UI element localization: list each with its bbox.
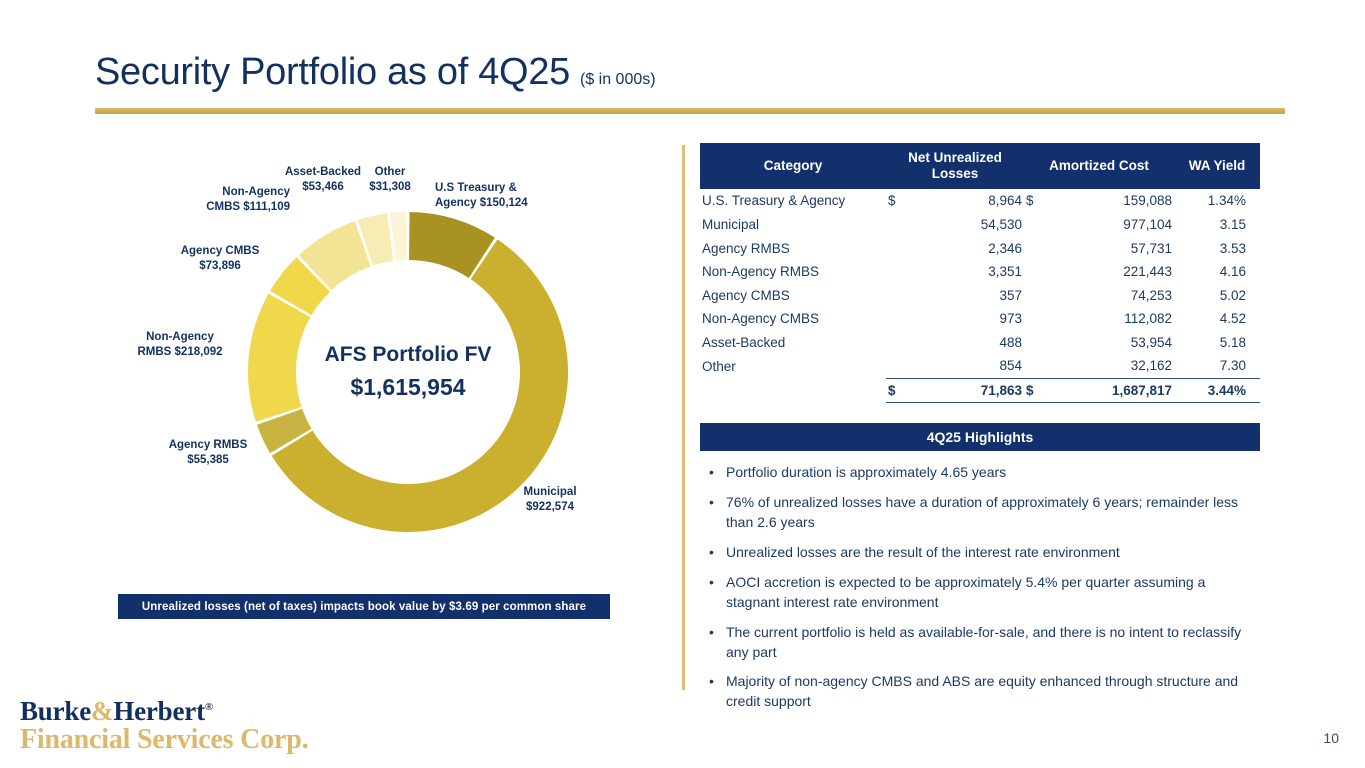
cell-nul-symbol (886, 237, 908, 261)
bullet-icon: • (709, 463, 714, 483)
highlights-list: •Portfolio duration is approximately 4.6… (700, 463, 1260, 712)
cell-net-unrealized-losses: 54,530 (908, 213, 1024, 237)
cell-amc-symbol (1024, 213, 1046, 237)
table-row: Agency RMBS2,34657,7313.53 (700, 237, 1260, 261)
highlight-text: Portfolio duration is approximately 4.65… (726, 464, 1006, 480)
cell-amc-symbol (1024, 237, 1046, 261)
table-body: U.S. Treasury & Agency$8,964$159,0881.34… (700, 189, 1260, 407)
cell-amortized-cost: 53,954 (1046, 331, 1174, 355)
col-header-amortized-cost: Amortized Cost (1024, 143, 1174, 189)
slide-header: Security Portfolio as of 4Q25 ($ in 000s… (95, 52, 1285, 94)
security-portfolio-table: Category Net Unrealized Losses Amortized… (700, 143, 1260, 407)
cell-nul-symbol (886, 284, 908, 308)
cell-wa-yield: 3.15 (1174, 213, 1260, 237)
cell-amortized-cost: 57,731 (1046, 237, 1174, 261)
highlight-text: Unrealized losses are the result of the … (726, 544, 1120, 560)
cell-total-wa-yield: 3.44% (1174, 378, 1260, 403)
highlight-text: Majority of non-agency CMBS and ABS are … (726, 673, 1238, 709)
table-row: Non-Agency RMBS3,351221,4434.16 (700, 260, 1260, 284)
table-total-row: $71,863$1,687,8173.44% (700, 378, 1260, 403)
bullet-icon: • (709, 573, 714, 593)
highlight-item: •Majority of non-agency CMBS and ABS are… (700, 672, 1260, 712)
cell-amc-symbol: $ (1024, 189, 1046, 213)
page-title-units: ($ in 000s) (580, 71, 656, 89)
cell-nul-symbol (886, 213, 908, 237)
cell-category: Asset-Backed (700, 331, 886, 355)
unrealized-losses-banner: Unrealized losses (net of taxes) impacts… (118, 594, 610, 619)
cell-wa-yield: 5.18 (1174, 331, 1260, 355)
highlight-item: •Unrealized losses are the result of the… (700, 543, 1260, 563)
highlight-text: The current portfolio is held as availab… (726, 624, 1241, 660)
cell-category: Other (700, 354, 886, 378)
cell-nul-symbol (886, 354, 908, 378)
logo-ampersand: & (91, 696, 113, 726)
cell-wa-yield: 1.34% (1174, 189, 1260, 213)
table-row: Other85432,1627.30 (700, 354, 1260, 378)
cell-nul-symbol: $ (886, 189, 908, 213)
cell-amc-symbol (1024, 307, 1046, 331)
cell-total-amc-symbol: $ (1024, 378, 1046, 403)
company-logo: Burke&Herbert® Financial Services Corp. (20, 697, 308, 755)
table-header: Category Net Unrealized Losses Amortized… (700, 143, 1260, 189)
cell-category: Non-Agency CMBS (700, 307, 886, 331)
cell-net-unrealized-losses: 973 (908, 307, 1024, 331)
highlights-header: 4Q25 Highlights (700, 423, 1260, 451)
cell-total-net-unrealized-losses: 71,863 (908, 378, 1024, 403)
chart-label-other: Other $31,308 (352, 165, 428, 195)
highlight-text: AOCI accretion is expected to be approxi… (726, 574, 1205, 610)
page-title: Security Portfolio as of 4Q25 (95, 52, 570, 94)
highlight-item: •Portfolio duration is approximately 4.6… (700, 463, 1260, 483)
highlight-text: 76% of unrealized losses have a duration… (726, 494, 1238, 530)
cell-category: Agency RMBS (700, 237, 886, 261)
table-row: U.S. Treasury & Agency$8,964$159,0881.34… (700, 189, 1260, 213)
cell-total-label (700, 378, 886, 403)
right-column: Category Net Unrealized Losses Amortized… (700, 143, 1260, 722)
header-divider (95, 108, 1285, 114)
cell-category: Municipal (700, 213, 886, 237)
cell-wa-yield: 5.02 (1174, 284, 1260, 308)
cell-net-unrealized-losses: 3,351 (908, 260, 1024, 284)
table-row: Non-Agency CMBS973112,0824.52 (700, 307, 1260, 331)
cell-wa-yield: 7.30 (1174, 354, 1260, 378)
highlight-item: •The current portfolio is held as availa… (700, 623, 1260, 663)
cell-amc-symbol (1024, 331, 1046, 355)
cell-net-unrealized-losses: 357 (908, 284, 1024, 308)
cell-amortized-cost: 221,443 (1046, 260, 1174, 284)
afs-portfolio-donut-chart: Non-Agency CMBS $111,109 Asset-Backed $5… (100, 140, 660, 560)
table-row: Asset-Backed48853,9545.18 (700, 331, 1260, 355)
cell-amc-symbol (1024, 260, 1046, 284)
chart-label-non-agency-rmbs: Non-Agency RMBS $218,092 (100, 330, 260, 360)
bullet-icon: • (709, 672, 714, 692)
cell-net-unrealized-losses: 8,964 (908, 189, 1024, 213)
logo-herbert: Herbert (113, 696, 205, 726)
page-number: 10 (1323, 730, 1339, 746)
column-divider (682, 145, 685, 690)
cell-wa-yield: 4.52 (1174, 307, 1260, 331)
cell-wa-yield: 4.16 (1174, 260, 1260, 284)
bullet-icon: • (709, 623, 714, 643)
cell-category: Non-Agency RMBS (700, 260, 886, 284)
cell-nul-symbol (886, 331, 908, 355)
cell-nul-symbol (886, 260, 908, 284)
cell-amc-symbol (1024, 284, 1046, 308)
cell-net-unrealized-losses: 854 (908, 354, 1024, 378)
cell-net-unrealized-losses: 488 (908, 331, 1024, 355)
highlight-item: •AOCI accretion is expected to be approx… (700, 573, 1260, 613)
cell-wa-yield: 3.53 (1174, 237, 1260, 261)
logo-registered-mark: ® (205, 701, 213, 713)
logo-line-1: Burke&Herbert® (20, 697, 308, 725)
bullet-icon: • (709, 493, 714, 513)
cell-total-nul-symbol: $ (886, 378, 908, 403)
bullet-icon: • (709, 543, 714, 563)
cell-net-unrealized-losses: 2,346 (908, 237, 1024, 261)
donut-slice (248, 294, 310, 422)
cell-category: Agency CMBS (700, 284, 886, 308)
col-header-category: Category (700, 143, 886, 189)
cell-category: U.S. Treasury & Agency (700, 189, 886, 213)
logo-burke: Burke (20, 696, 91, 726)
logo-line-2: Financial Services Corp. (20, 725, 308, 754)
col-header-wa-yield: WA Yield (1174, 143, 1260, 189)
highlight-item: •76% of unrealized losses have a duratio… (700, 493, 1260, 533)
slide: Security Portfolio as of 4Q25 ($ in 000s… (0, 0, 1365, 768)
table-total-underline (700, 403, 1260, 408)
donut-svg (238, 202, 578, 542)
cell-amortized-cost: 977,104 (1046, 213, 1174, 237)
cell-amc-symbol (1024, 354, 1046, 378)
cell-amortized-cost: 159,088 (1046, 189, 1174, 213)
table-row: Agency CMBS35774,2535.02 (700, 284, 1260, 308)
donut-slice (390, 212, 407, 261)
cell-amortized-cost: 112,082 (1046, 307, 1174, 331)
cell-total-amortized-cost: 1,687,817 (1046, 378, 1174, 403)
cell-amortized-cost: 74,253 (1046, 284, 1174, 308)
cell-amortized-cost: 32,162 (1046, 354, 1174, 378)
donut-ring: AFS Portfolio FV $1,615,954 (238, 202, 578, 542)
cell-nul-symbol (886, 307, 908, 331)
col-header-net-unrealized-losses: Net Unrealized Losses (886, 143, 1024, 189)
table-row: Municipal54,530977,1043.15 (700, 213, 1260, 237)
